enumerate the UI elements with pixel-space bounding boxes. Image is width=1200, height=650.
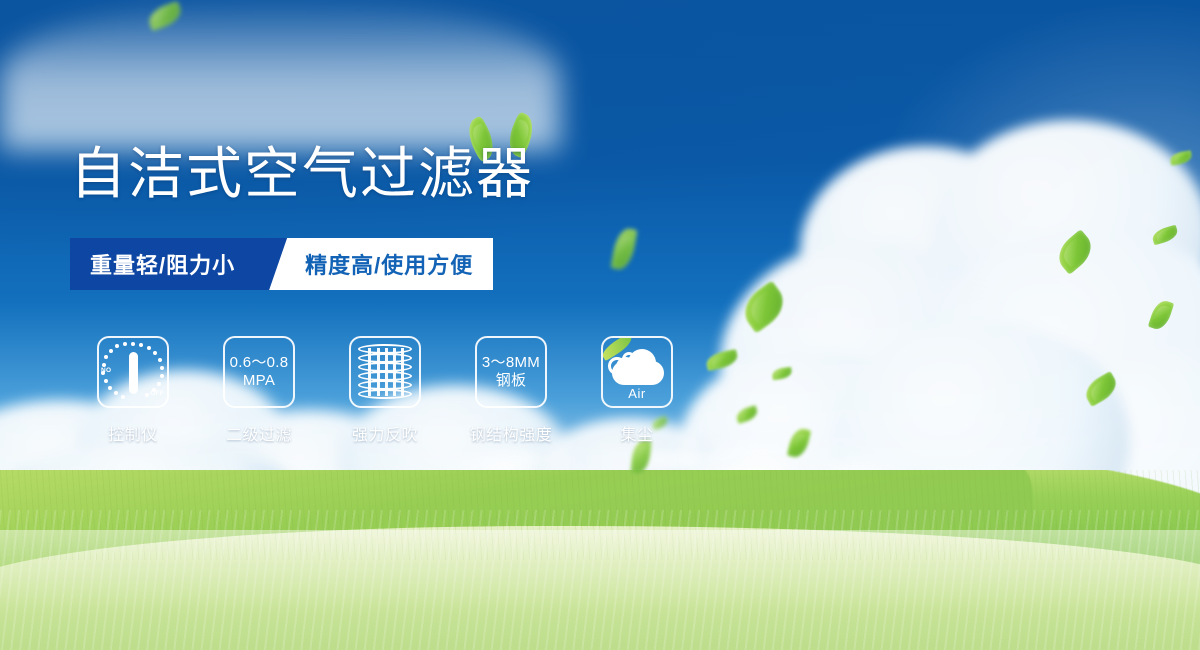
steel-line-2: 钢板 — [482, 372, 540, 390]
subtitle-bar: 重量轻/阻力小 精度高/使用方便 — [70, 238, 493, 290]
pressure-text-icon: 0.6～0.8 MPA — [230, 354, 289, 389]
feature-list: NO OFF 控制仪 0.6～0.8 MPA 二级过滤 — [70, 336, 700, 445]
pressure-line-2: MPA — [230, 372, 289, 390]
pressure-line-1: 0.6～0.8 — [230, 354, 289, 372]
feature-icon-box: Air — [601, 336, 673, 408]
feature-item-steel[interactable]: 3～8MM 钢板 钢结构强度 — [448, 336, 574, 445]
dial-needle — [129, 352, 138, 394]
feature-icon-box — [349, 336, 421, 408]
steel-plate-text-icon: 3～8MM 钢板 — [482, 354, 540, 389]
feature-icon-box: 3～8MM 钢板 — [475, 336, 547, 408]
feature-caption: 钢结构强度 — [470, 421, 553, 445]
dial-off-label: OFF — [150, 390, 164, 397]
feature-icon-box: 0.6～0.8 MPA — [223, 336, 295, 408]
air-label: Air — [606, 386, 668, 401]
feature-caption: 控制仪 — [108, 421, 158, 445]
feature-caption: 二级过滤 — [226, 421, 292, 445]
air-cloud-icon: Air — [606, 345, 668, 399]
coil-filter-icon — [358, 344, 412, 400]
grass-field — [0, 470, 1200, 650]
subtitle-left-panel: 重量轻/阻力小 — [70, 238, 269, 290]
feature-item-blowback[interactable]: 强力反吹 — [322, 336, 448, 445]
feature-item-pressure[interactable]: 0.6～0.8 MPA 二级过滤 — [196, 336, 322, 445]
feature-item-control[interactable]: NO OFF 控制仪 — [70, 336, 196, 445]
feature-icon-box: NO OFF — [97, 336, 169, 408]
subtitle-right-text: 精度高/使用方便 — [305, 248, 473, 280]
feature-caption: 强力反吹 — [352, 421, 418, 445]
dial-on-label: NO — [101, 367, 111, 374]
product-banner: 自洁式空气过滤器 重量轻/阻力小 精度高/使用方便 — [0, 0, 1200, 650]
subtitle-left-text: 重量轻/阻力小 — [90, 248, 235, 280]
feature-caption: 集尘 — [620, 421, 653, 445]
page-title: 自洁式空气过滤器 — [70, 146, 534, 202]
dial-gauge-icon: NO OFF — [101, 340, 165, 404]
subtitle-right-panel: 精度高/使用方便 — [269, 238, 493, 290]
grass-near-layer — [0, 526, 1200, 650]
feature-item-dust[interactable]: Air 集尘 — [574, 336, 700, 445]
steel-line-1: 3～8MM — [482, 354, 540, 372]
